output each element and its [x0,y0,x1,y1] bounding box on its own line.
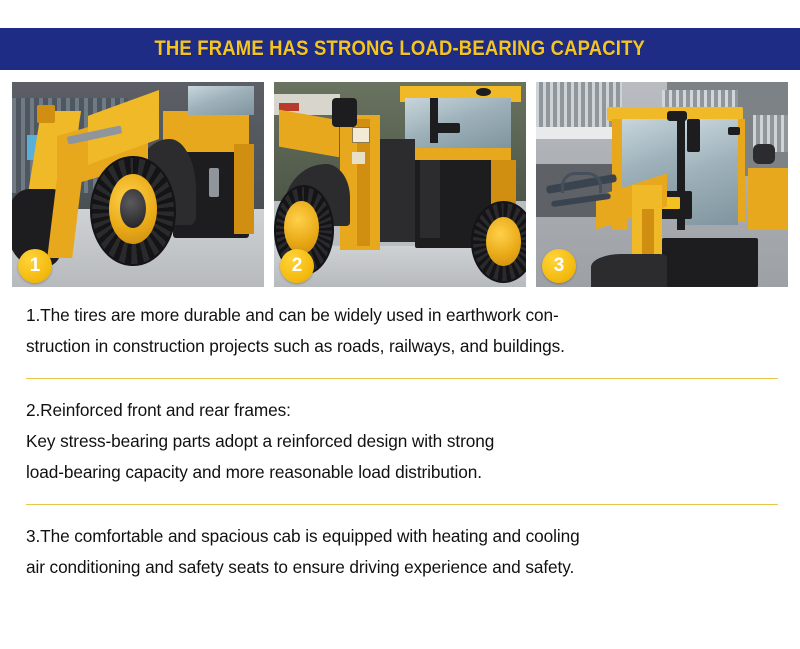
paragraph-2-line-2: Key stress-bearing parts adopt a reinfor… [26,426,775,457]
paragraph-1-line-1: 1.The tires are more durable and can be … [26,300,775,331]
paragraph-3-line-1: 3.The comfortable and spacious cab is eq… [26,521,775,552]
divider-1 [26,378,778,379]
gallery-image-3[interactable]: 3 [536,82,788,287]
paragraph-2: 2.Reinforced front and rear frames: Key … [26,395,775,488]
paragraph-1: 1.The tires are more durable and can be … [26,300,775,362]
gallery-badge-1: 1 [18,249,52,283]
paragraph-2-line-3: load-bearing capacity and more reasonabl… [26,457,775,488]
photo-scene-2 [274,82,526,287]
gallery-image-1[interactable]: 1 [12,82,264,287]
description-body: 1.The tires are more durable and can be … [26,300,786,583]
paragraph-3-line-2: air conditioning and safety seats to ens… [26,552,775,583]
page-title: THE FRAME HAS STRONG LOAD-BEARING CAPACI… [155,37,646,61]
paragraph-2-line-1: 2.Reinforced front and rear frames: [26,395,775,426]
gallery-badge-3: 3 [542,249,576,283]
divider-2 [26,504,778,505]
page-root: THE FRAME HAS STRONG LOAD-BEARING CAPACI… [0,0,800,649]
photo-scene-1 [12,82,264,287]
header-banner: THE FRAME HAS STRONG LOAD-BEARING CAPACI… [0,28,800,70]
photo-scene-3 [536,82,788,287]
gallery-badge-2: 2 [280,249,314,283]
image-gallery: 1 [12,82,788,287]
gallery-image-2[interactable]: 2 [274,82,526,287]
paragraph-3: 3.The comfortable and spacious cab is eq… [26,521,775,583]
paragraph-1-line-2: struction in construction projects such … [26,331,775,362]
